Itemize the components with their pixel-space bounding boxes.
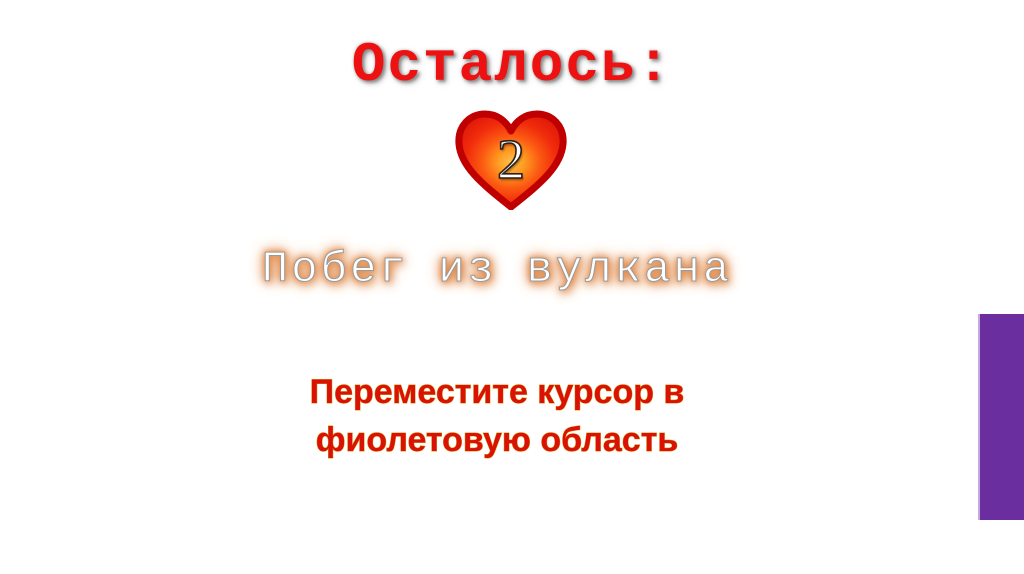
game-title: Побег из вулкана [0, 243, 1024, 297]
game-slide: Осталось: 2 Побег из вулкана Переместите… [0, 0, 1024, 574]
lives-remaining-label: Осталось: [0, 34, 1024, 96]
instruction-line-2: фиолетовую область [0, 416, 994, 464]
purple-target-area[interactable] [978, 314, 1024, 520]
instruction-line-1: Переместите курсор в [0, 368, 994, 416]
instruction-text: Переместите курсор в фиолетовую область [0, 368, 1024, 464]
lives-count-value: 2 [455, 132, 567, 188]
lives-heart: 2 [455, 110, 567, 210]
